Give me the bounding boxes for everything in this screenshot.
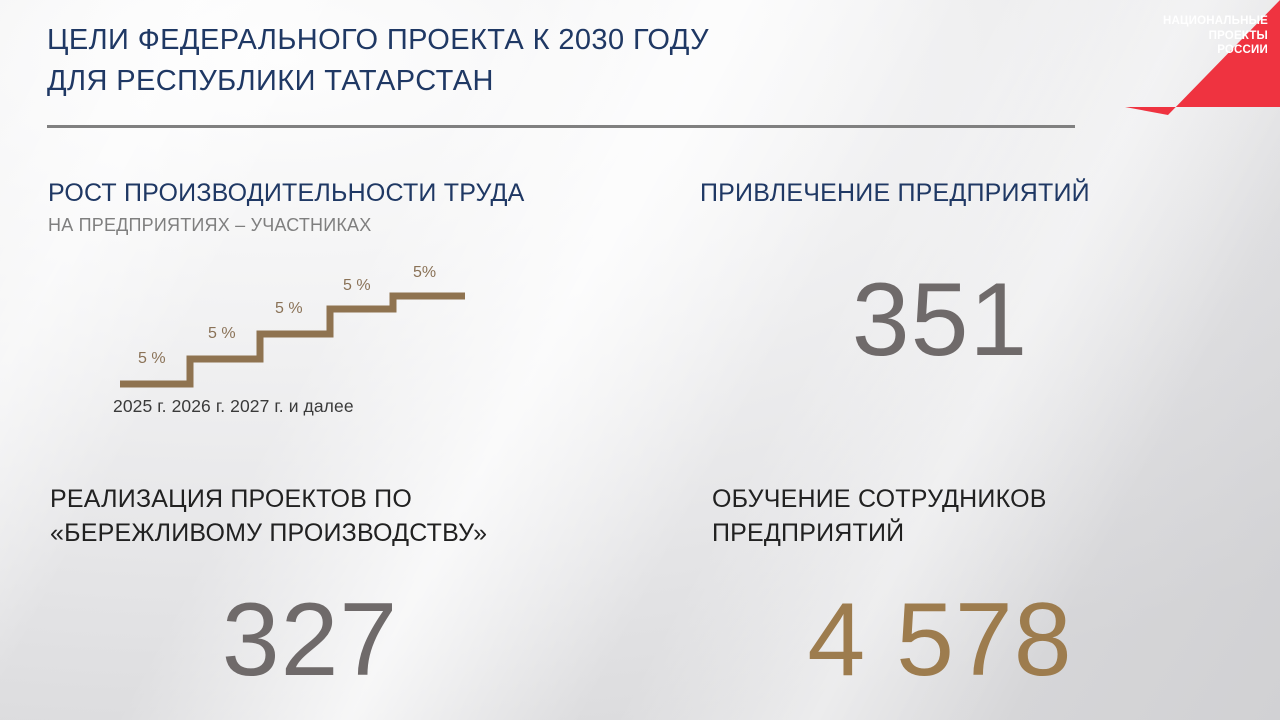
step-label-4: 5 % — [343, 277, 371, 295]
panel-enterprises-value: 351 — [690, 268, 1190, 372]
panel-productivity: РОСТ ПРОИЗВОДИТЕЛЬНОСТИ ТРУДА НА ПРЕДПРИ… — [48, 178, 688, 237]
chart-x-axis-label: 2025 г. 2026 г. 2027 г. и далее — [113, 395, 354, 417]
step-label-3: 5 % — [275, 300, 303, 318]
panel-training-value: 4 578 — [660, 588, 1220, 692]
title-divider — [47, 125, 1075, 128]
panel-training: ОБУЧЕНИЕ СОТРУДНИКОВ ПРЕДПРИЯТИЙ — [712, 482, 1232, 550]
panel-productivity-subheading: НА ПРЕДПРИЯТИЯХ – УЧАСТНИКАХ — [48, 213, 688, 237]
panel-lean-projects: РЕАЛИЗАЦИЯ ПРОЕКТОВ ПО «БЕРЕЖЛИВОМУ ПРОИ… — [50, 482, 650, 550]
panel-enterprises-heading: ПРИВЛЕЧЕНИЕ ПРЕДПРИЯТИЙ — [700, 178, 1200, 209]
step-label-5: 5% — [413, 264, 436, 282]
page-title: ЦЕЛИ ФЕДЕРАЛЬНОГО ПРОЕКТА К 2030 ГОДУ ДЛ… — [47, 20, 1067, 102]
panel-lean-projects-value: 327 — [40, 588, 580, 692]
logo-label: НАЦИОНАЛЬНЫЕ ПРОЕКТЫ РОССИИ — [1152, 14, 1268, 58]
national-projects-logo: НАЦИОНАЛЬНЫЕ ПРОЕКТЫ РОССИИ — [1105, 0, 1280, 115]
step-label-2: 5 % — [208, 325, 236, 343]
panel-training-heading: ОБУЧЕНИЕ СОТРУДНИКОВ ПРЕДПРИЯТИЙ — [712, 482, 1232, 550]
slide-canvas: ЦЕЛИ ФЕДЕРАЛЬНОГО ПРОЕКТА К 2030 ГОДУ ДЛ… — [0, 0, 1280, 720]
panel-lean-projects-heading: РЕАЛИЗАЦИЯ ПРОЕКТОВ ПО «БЕРЕЖЛИВОМУ ПРОИ… — [50, 482, 650, 550]
panel-productivity-heading: РОСТ ПРОИЗВОДИТЕЛЬНОСТИ ТРУДА — [48, 178, 688, 209]
step-label-1: 5 % — [138, 350, 166, 368]
panel-enterprises: ПРИВЛЕЧЕНИЕ ПРЕДПРИЯТИЙ — [700, 178, 1200, 209]
